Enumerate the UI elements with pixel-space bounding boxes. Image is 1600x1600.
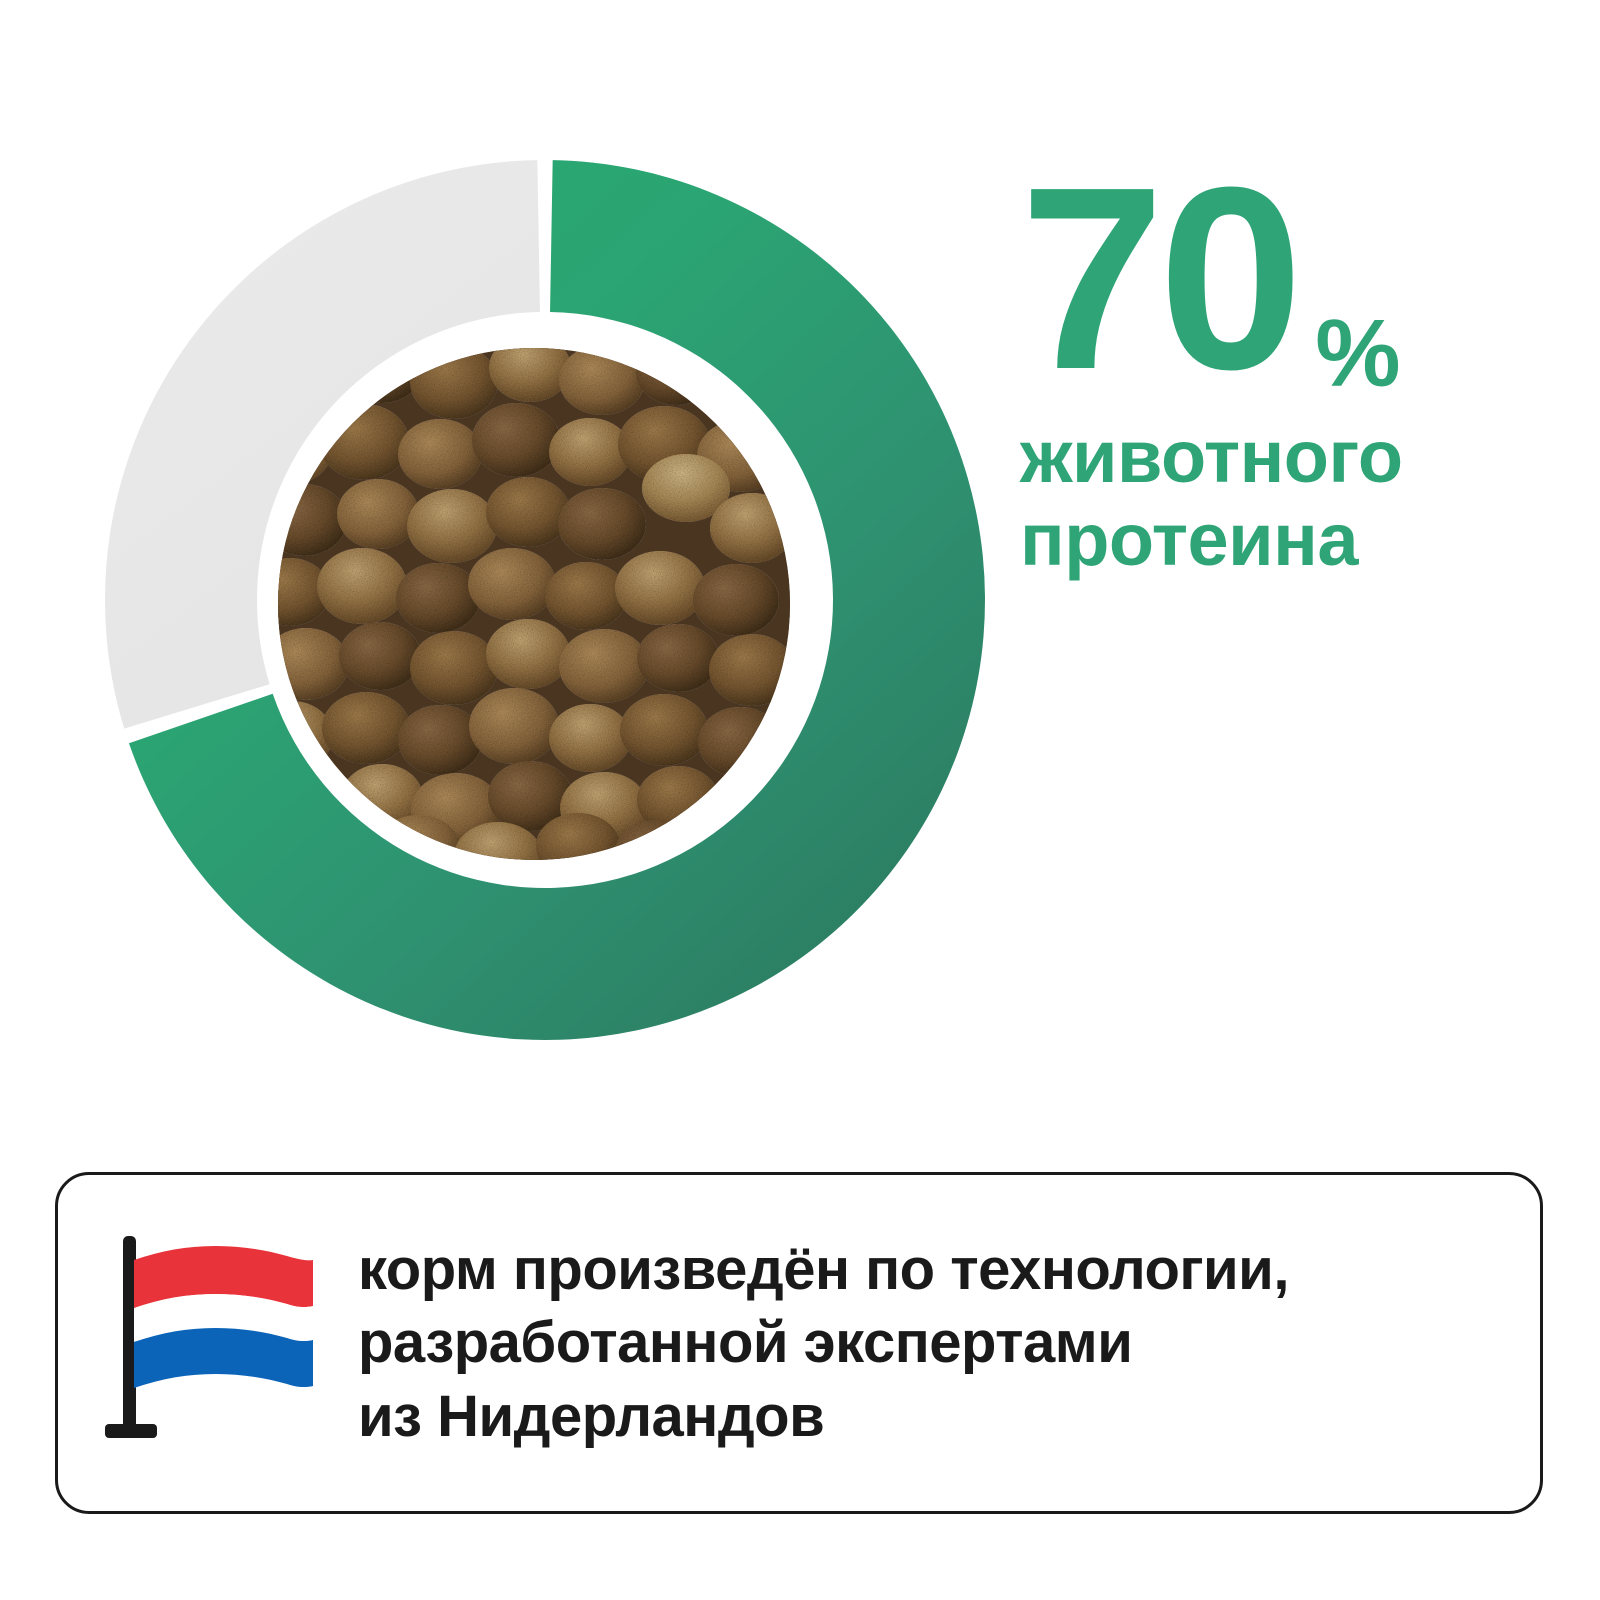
stat-caption: животного протеина bbox=[1020, 416, 1560, 582]
stat-caption-line-2: протеина bbox=[1020, 498, 1358, 581]
origin-text-line-2: разработанной экспертами bbox=[358, 1306, 1289, 1379]
stat-percent-sign: % bbox=[1315, 306, 1400, 402]
stat-caption-line-1: животного bbox=[1020, 415, 1403, 498]
kibble-photo bbox=[278, 348, 790, 860]
infographic-canvas: 70 % животного протеина корм произведён bbox=[0, 0, 1600, 1600]
flag-holder bbox=[58, 1228, 358, 1458]
protein-stat-block: 70 % животного протеина bbox=[1020, 168, 1560, 582]
origin-text-line-3: из Нидерландов bbox=[358, 1380, 1289, 1453]
origin-info-card: корм произведён по технологии, разработа… bbox=[55, 1172, 1543, 1514]
flag-pole-base bbox=[105, 1424, 157, 1438]
origin-text-line-1: корм произведён по технологии, bbox=[358, 1233, 1289, 1306]
stat-number-row: 70 % bbox=[1020, 168, 1560, 402]
netherlands-flag-icon bbox=[105, 1228, 325, 1458]
origin-card-text: корм произведён по технологии, разработа… bbox=[358, 1233, 1319, 1452]
kibble-texture bbox=[278, 348, 790, 860]
protein-donut-chart bbox=[95, 150, 995, 1050]
stat-number: 70 bbox=[1020, 168, 1297, 392]
